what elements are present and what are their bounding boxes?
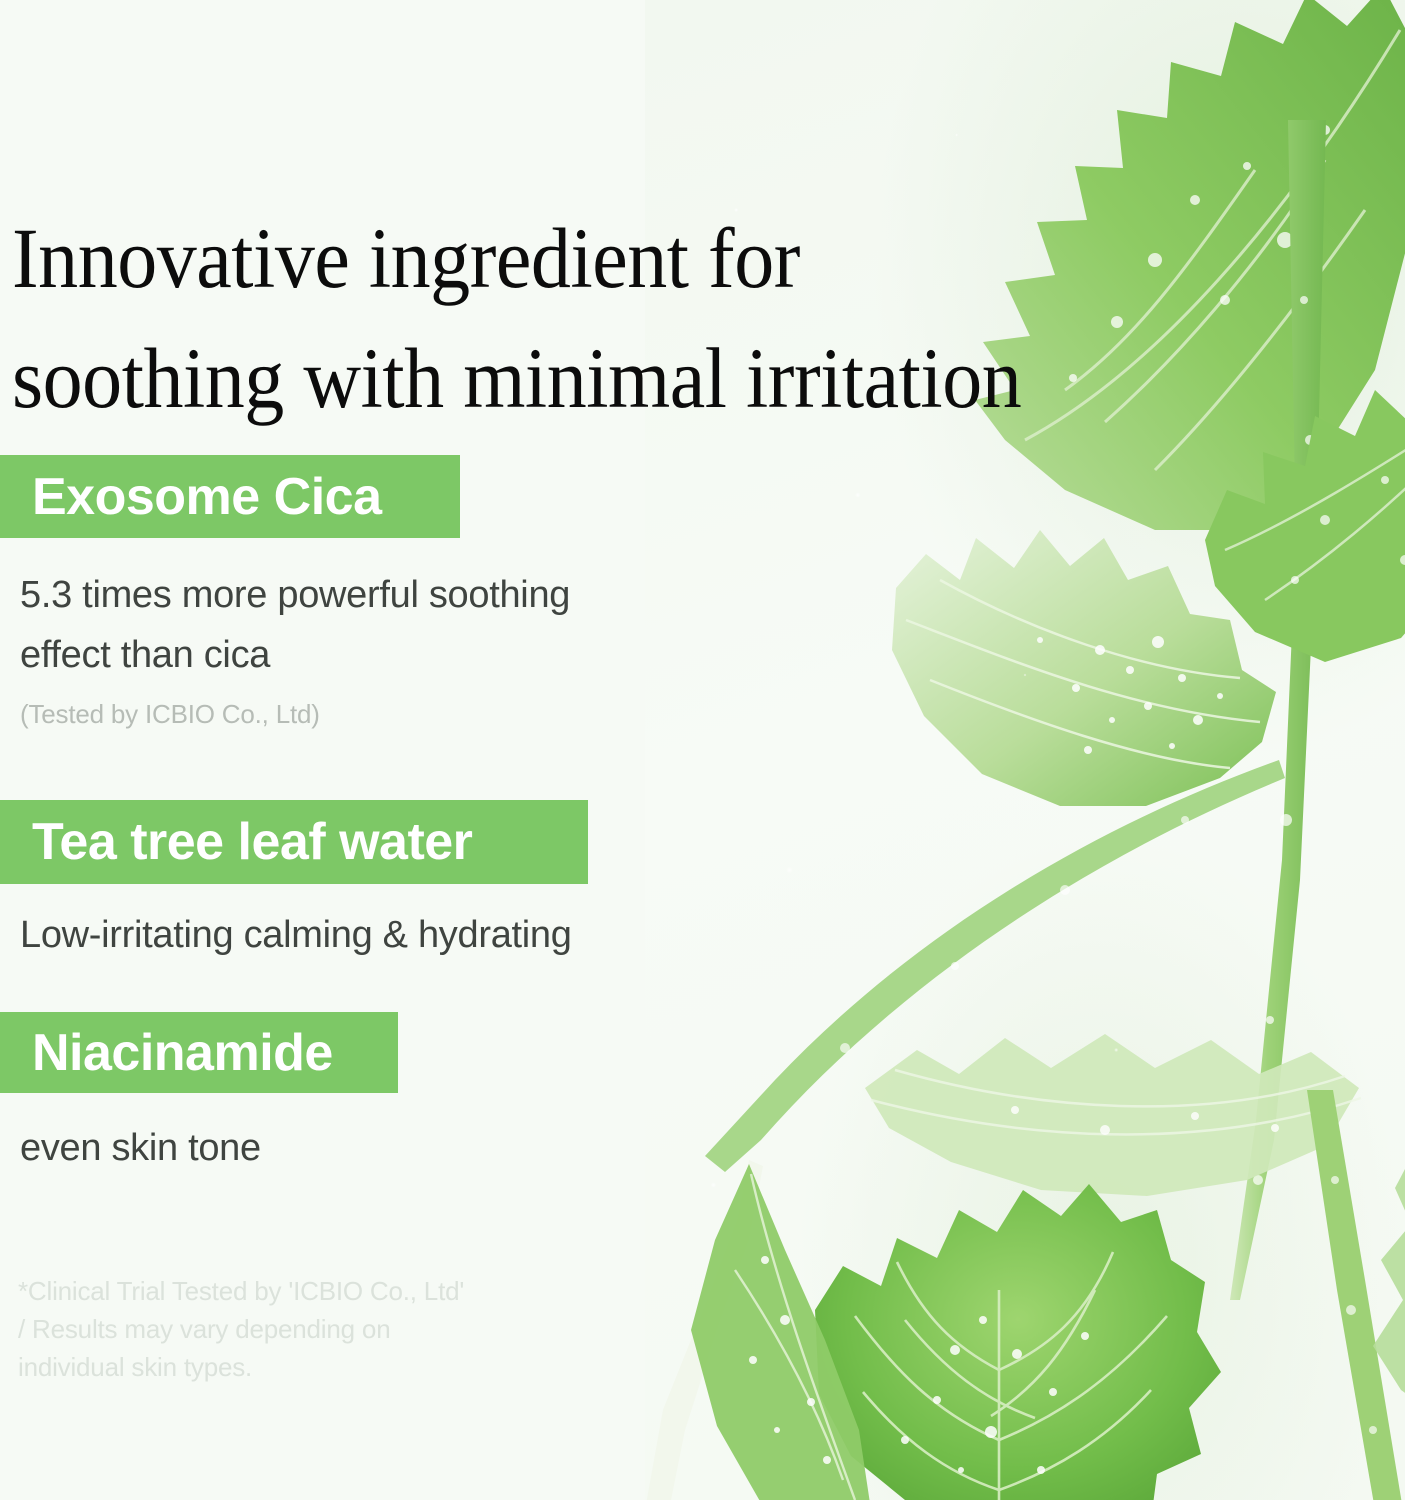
ingredient-badge-tea-tree-leaf-water: Tea tree leaf water <box>0 800 588 884</box>
ingredient-badge-niacinamide: Niacinamide <box>0 1012 398 1093</box>
ingredient-badge-exosome-cica: Exosome Cica <box>0 455 460 538</box>
leaf-stem-main <box>1230 120 1370 1300</box>
clinical-trial-disclaimer: *Clinical Trial Tested by 'ICBIO Co., Lt… <box>18 1272 658 1386</box>
ingredient-description-exosome-cica: 5.3 times more powerful soothing effect … <box>20 565 780 685</box>
text-content-column: Innovative ingredient for soothing with … <box>0 0 820 1500</box>
ingredient-description-niacinamide: even skin tone <box>20 1118 720 1178</box>
leaf-bottom-round <box>785 1140 1225 1500</box>
page-title: Innovative ingredient for soothing with … <box>12 198 1212 438</box>
leaf-mid-right <box>1205 370 1405 670</box>
ingredient-description-tea-tree-leaf-water: Low-irritating calming & hydrating <box>20 905 800 965</box>
product-feature-panel: Innovative ingredient for soothing with … <box>0 0 1405 1500</box>
leaf-lower-pale <box>855 970 1375 1210</box>
leaf-middle-bubbled <box>890 510 1310 840</box>
ingredient-note-exosome-cica: (Tested by ICBIO Co., Ltd) <box>20 697 320 731</box>
leaf-right-edge-partial <box>1285 1140 1405 1400</box>
leaf-stem-right-edge <box>1285 1090 1405 1500</box>
